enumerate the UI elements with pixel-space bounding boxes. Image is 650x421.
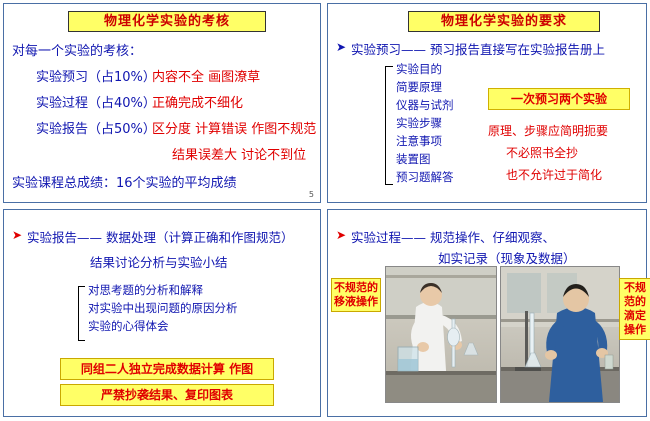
slide-1-line-2: 内容不全 画图潦草 (152, 66, 260, 85)
slide-2-brace-item-4: 注意事项 (396, 133, 442, 149)
slideshow-page: 物理化学实验的考核 对每一个实验的考核： 实验预习（占10%） 内容不全 画图潦… (0, 0, 650, 421)
slide-3-line-2: 结果讨论分析与实验小结 (90, 252, 228, 271)
slide-2-note-2: 也不允许过于简化 (506, 166, 602, 183)
label-improper-titration: 不规范的滴定操作 (619, 278, 650, 340)
slide-1-line-6: 区分度 计算错误 作图不规范 (152, 118, 316, 137)
slide-1-line-3: 实验过程（占40%） (36, 92, 156, 111)
slide-1-line-7: 结果误差大 讨论不到位 (172, 144, 306, 163)
slide-3-sub-item-2: 实验的心得体会 (88, 318, 169, 334)
slide-1-line-5: 实验报告（占50%） (36, 118, 156, 137)
slide-2-brace-item-1: 简要原理 (396, 79, 442, 95)
slide-3-bullet-icon: ➤ (12, 228, 22, 242)
label-improper-pipetting: 不规范的移液操作 (331, 278, 381, 312)
slide-3-box-1: 同组二人独立完成数据计算 作图 (60, 358, 274, 380)
brace-top (385, 66, 393, 67)
slide-2-bullet-icon: ➤ (336, 40, 346, 54)
slide-2-brace-item-6: 预习题解答 (396, 169, 454, 185)
slide-2-note-1: 不必照书全抄 (506, 144, 578, 161)
slide-2-brace-item-3: 实验步骤 (396, 115, 442, 131)
slide-2-brace-item-5: 装置图 (396, 151, 431, 167)
photo-pipetting-operation (385, 266, 497, 403)
slide-1-line-0: 对每一个实验的考核： (12, 40, 142, 59)
slide-1: 物理化学实验的考核 对每一个实验的考核： 实验预习（占10%） 内容不全 画图潦… (3, 3, 321, 203)
slide-3-brace-top (78, 286, 85, 287)
photo-pipetting-svg (386, 267, 496, 402)
slide-1-page-number: 5 (309, 190, 314, 199)
slide-1-line-4: 正确完成不细化 (152, 92, 243, 111)
slide-3-line-1: 实验报告—— 数据处理（计算正确和作图规范） (27, 227, 293, 246)
slide-1-line-8: 实验课程总成绩：16个实验的平均成绩 (12, 172, 237, 191)
slide-2-title: 物理化学实验的要求 (408, 11, 600, 32)
slide-3-brace-bottom (78, 340, 85, 341)
photo-titration-svg (501, 267, 619, 402)
slide-2: 物理化学实验的要求 ➤ 实验预习—— 预习报告直接写在实验报告册上 实验目的 简… (327, 3, 647, 203)
slide-1-line-1: 实验预习（占10%） (36, 66, 156, 85)
brace-vertical (385, 66, 386, 184)
slide-3: ➤ 实验报告—— 数据处理（计算正确和作图规范） 结果讨论分析与实验小结 对思考… (3, 209, 321, 417)
slide-3-sub-item-1: 对实验中出现问题的原因分析 (88, 300, 238, 316)
slide-4-bullet-icon: ➤ (336, 228, 346, 242)
slide-1-title: 物理化学实验的考核 (68, 11, 266, 32)
slide-2-highlight-box: 一次预习两个实验 (488, 88, 630, 110)
slide-3-brace-vertical (78, 286, 79, 340)
slide-4-line-2: 如实记录（现象及数据） (438, 248, 576, 267)
slide-2-note-0: 原理、步骤应简明扼要 (488, 122, 608, 139)
slide-3-box-2: 严禁抄袭结果、复印图表 (60, 384, 274, 406)
slide-2-brace-item-0: 实验目的 (396, 61, 442, 77)
photo-titration-operation (500, 266, 620, 403)
slide-2-brace-item-2: 仪器与试剂 (396, 97, 454, 113)
slide-2-line-1: 实验预习—— 预习报告直接写在实验报告册上 (351, 39, 605, 58)
slide-3-sub-item-0: 对思考题的分析和解释 (88, 282, 203, 298)
brace-bottom (385, 184, 393, 185)
slide-4-line-1: 实验过程—— 规范操作、仔细观察、 (351, 227, 555, 246)
